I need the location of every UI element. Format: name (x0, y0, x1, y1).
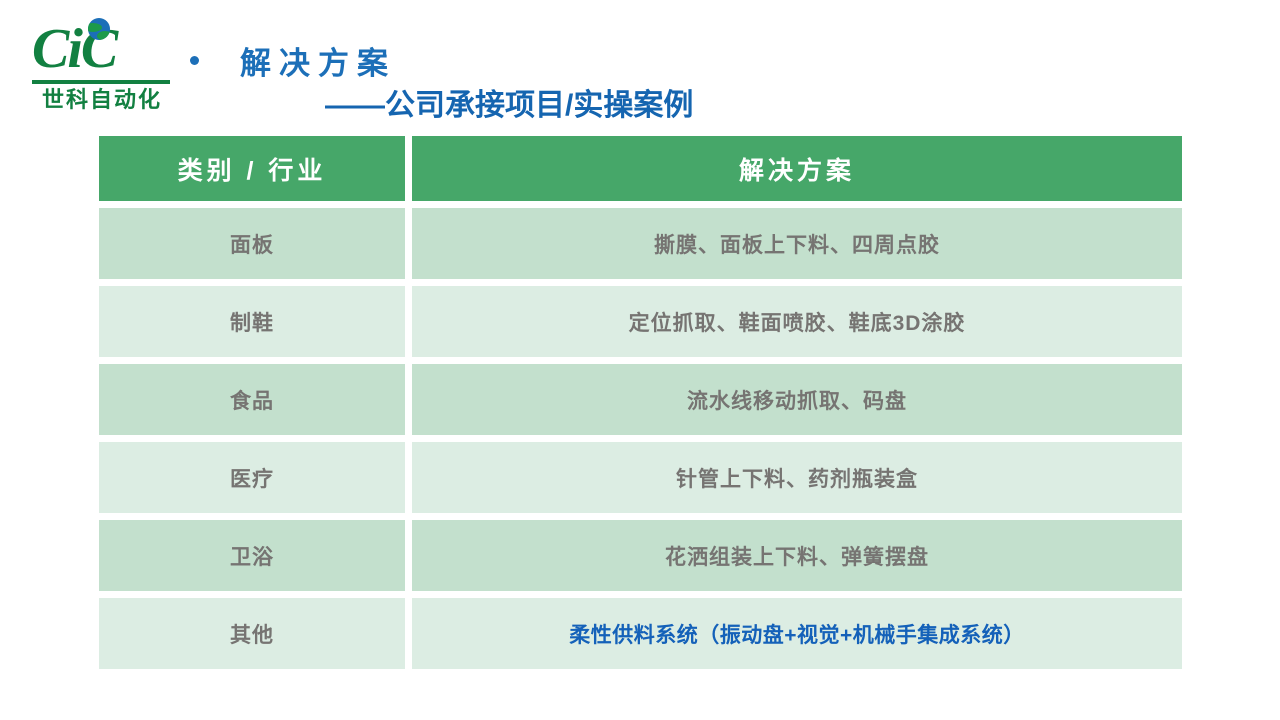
category-label: 面板 (230, 229, 274, 259)
table-cell-category: 制鞋 (99, 286, 405, 357)
logo-mark: CiC (22, 16, 174, 82)
table-cell-solution: 定位抓取、鞋面喷胶、鞋底3D涂胶 (412, 286, 1182, 357)
category-label: 医疗 (230, 463, 274, 493)
solution-label: 流水线移动抓取、码盘 (687, 385, 907, 415)
globe-icon (88, 18, 110, 40)
table-row: 其他 柔性供料系统（振动盘+视觉+机械手集成系统） (99, 598, 1182, 669)
category-label: 制鞋 (230, 307, 274, 337)
solution-label: 柔性供料系统（振动盘+视觉+机械手集成系统） (569, 619, 1025, 649)
table-cell-category: 其他 (99, 598, 405, 669)
table-row: 制鞋 定位抓取、鞋面喷胶、鞋底3D涂胶 (99, 286, 1182, 357)
page-subtitle: ——公司承接项目/实操案例 (325, 87, 693, 125)
table-cell-solution: 柔性供料系统（振动盘+视觉+机械手集成系统） (412, 598, 1182, 669)
slide-header: CiC 世科自动化 解决方案 ——公司承接项目/实操案例 (0, 0, 1280, 130)
table-cell-solution: 花洒组装上下料、弹簧摆盘 (412, 520, 1182, 591)
table-header-cell-solution: 解决方案 (412, 136, 1182, 201)
table-cell-category: 卫浴 (99, 520, 405, 591)
logo-company-name: 世科自动化 (31, 87, 173, 115)
table-header-cell-category: 类别 / 行业 (99, 136, 405, 201)
table-row: 食品 流水线移动抓取、码盘 (99, 364, 1182, 435)
company-logo: CiC 世科自动化 (22, 16, 174, 118)
table-row: 医疗 针管上下料、药剂瓶装盒 (99, 442, 1182, 513)
table-cell-solution: 流水线移动抓取、码盘 (412, 364, 1182, 435)
category-label: 卫浴 (230, 541, 274, 571)
table-cell-category: 食品 (99, 364, 405, 435)
solution-label: 花洒组装上下料、弹簧摆盘 (665, 541, 929, 571)
table-header-label: 类别 / 行业 (178, 151, 327, 187)
solution-label: 针管上下料、药剂瓶装盒 (676, 463, 918, 493)
table-row: 面板 撕膜、面板上下料、四周点胶 (99, 208, 1182, 279)
solution-label: 撕膜、面板上下料、四周点胶 (654, 229, 940, 259)
solution-label: 定位抓取、鞋面喷胶、鞋底3D涂胶 (629, 307, 966, 337)
table-row: 卫浴 花洒组装上下料、弹簧摆盘 (99, 520, 1182, 591)
table-header-label: 解决方案 (739, 151, 855, 187)
table-header-row: 类别 / 行业 解决方案 (99, 136, 1182, 201)
table-cell-solution: 撕膜、面板上下料、四周点胶 (412, 208, 1182, 279)
table-cell-solution: 针管上下料、药剂瓶装盒 (412, 442, 1182, 513)
bullet-icon (190, 56, 199, 65)
table-cell-category: 医疗 (99, 442, 405, 513)
table-cell-category: 面板 (99, 208, 405, 279)
page-title: 解决方案 (240, 44, 396, 84)
category-label: 其他 (230, 619, 274, 649)
logo-divider (32, 80, 170, 84)
category-label: 食品 (230, 385, 274, 415)
solutions-table: 类别 / 行业 解决方案 面板 撕膜、面板上下料、四周点胶 制鞋 定位抓取、鞋面… (99, 136, 1182, 676)
